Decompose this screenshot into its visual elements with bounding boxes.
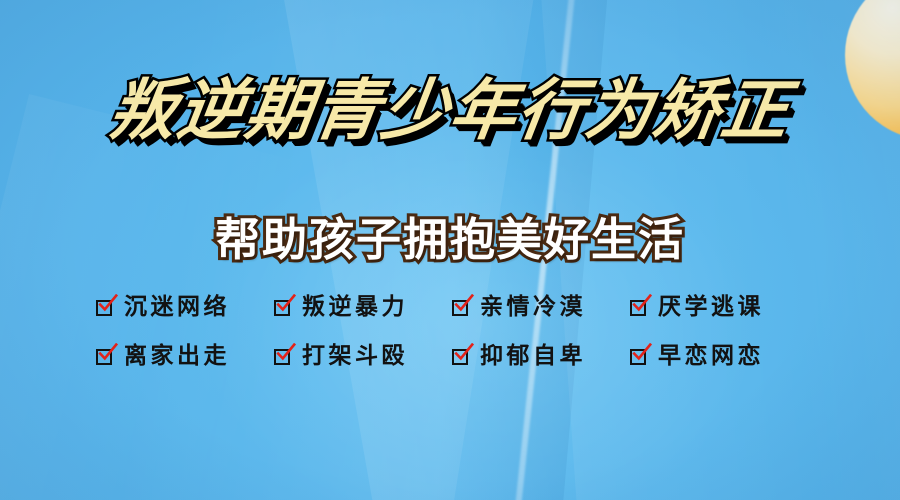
checklist-item-label: 离家出走: [124, 345, 230, 368]
subtitle-container: 帮助孩子拥抱美好生活: [0, 203, 900, 268]
checkbox-checked-icon[interactable]: [274, 347, 295, 368]
promo-banner: 叛逆期青少年行为矫正 帮助孩子拥抱美好生活 沉迷网络叛逆暴力亲情冷漠厌学逃课离家…: [0, 0, 900, 500]
checklist-item-label: 打架斗殴: [302, 345, 408, 368]
checkbox-checked-icon[interactable]: [452, 298, 473, 319]
checklist-item-label: 厌学逃课: [658, 296, 764, 319]
checkbox-checked-icon[interactable]: [274, 298, 295, 319]
checklist-item[interactable]: 沉迷网络: [96, 296, 274, 319]
page-subtitle: 帮助孩子拥抱美好生活: [215, 203, 685, 268]
checkbox-checked-icon[interactable]: [630, 298, 651, 319]
checklist-item[interactable]: 抑郁自卑: [452, 345, 630, 368]
checklist-item[interactable]: 离家出走: [96, 345, 274, 368]
checklist-item[interactable]: 打架斗殴: [274, 345, 452, 368]
checklist-grid: 沉迷网络叛逆暴力亲情冷漠厌学逃课离家出走打架斗殴抑郁自卑早恋网恋: [96, 296, 808, 368]
checklist-item-label: 抑郁自卑: [480, 345, 586, 368]
checklist-item-label: 早恋网恋: [658, 345, 764, 368]
checklist-item[interactable]: 早恋网恋: [630, 345, 808, 368]
checkbox-checked-icon[interactable]: [630, 347, 651, 368]
page-title: 叛逆期青少年行为矫正: [105, 76, 795, 146]
checklist-item[interactable]: 亲情冷漠: [452, 296, 630, 319]
checklist-item-label: 沉迷网络: [124, 296, 230, 319]
checkbox-checked-icon[interactable]: [96, 298, 117, 319]
checklist-item[interactable]: 叛逆暴力: [274, 296, 452, 319]
checklist-item[interactable]: 厌学逃课: [630, 296, 808, 319]
checklist-item-label: 亲情冷漠: [480, 296, 586, 319]
checklist-item-label: 叛逆暴力: [302, 296, 408, 319]
title-container: 叛逆期青少年行为矫正: [0, 76, 900, 146]
checkbox-checked-icon[interactable]: [96, 347, 117, 368]
checkbox-checked-icon[interactable]: [452, 347, 473, 368]
